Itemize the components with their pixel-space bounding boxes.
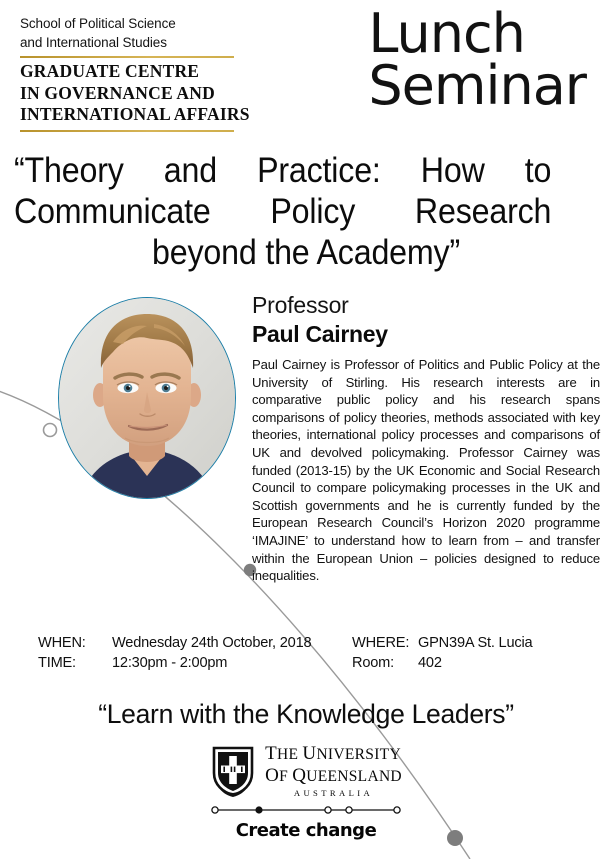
curve-node-hollow bbox=[44, 424, 57, 437]
time-label: TIME: bbox=[38, 653, 112, 673]
speaker-portrait-photo bbox=[58, 297, 236, 499]
portrait-illustration bbox=[59, 298, 235, 498]
speaker-name: Paul Cairney bbox=[252, 320, 600, 348]
speaker-info: Professor Paul Cairney Paul Cairney is P… bbox=[252, 292, 600, 585]
title-line-2: Communicate Policy Research bbox=[14, 191, 551, 232]
when-value: Wednesday 24th October, 2018 bbox=[112, 633, 352, 653]
uq-logo-block: THE UNIVERSITY OF QUEENSLAND AUSTRALIA C… bbox=[0, 744, 612, 841]
tagline: “Learn with the Knowledge Leaders” bbox=[0, 698, 612, 730]
event-type-heading: Lunch Seminar bbox=[368, 8, 586, 112]
room-value: 402 bbox=[418, 653, 532, 673]
poster-header: School of Political Science and Internat… bbox=[20, 14, 280, 132]
where-value: GPN39A St. Lucia bbox=[418, 633, 532, 653]
details-row-when-where: WHEN: Wednesday 24th October, 2018 WHERE… bbox=[38, 633, 532, 653]
seminar-poster: School of Political Science and Internat… bbox=[0, 0, 612, 859]
speaker-role: Professor bbox=[252, 292, 600, 319]
uq-crest-icon bbox=[210, 745, 256, 797]
uq-wordmark-line-2: OF QUEENSLAND bbox=[265, 766, 402, 785]
school-name-line-1: School of Political Science bbox=[20, 14, 280, 33]
event-details: WHEN: Wednesday 24th October, 2018 WHERE… bbox=[38, 633, 583, 673]
gold-divider-bottom bbox=[20, 130, 234, 132]
when-label: WHEN: bbox=[38, 633, 112, 653]
graduate-centre-name: GRADUATE CENTRE IN GOVERNANCE AND INTERN… bbox=[20, 61, 280, 126]
uq-country-label: AUSTRALIA bbox=[265, 789, 402, 798]
details-row-time-room: TIME: 12:30pm - 2:00pm Room: 402 bbox=[38, 653, 532, 673]
uq-wordmark: THE UNIVERSITY OF QUEENSLAND AUSTRALIA bbox=[265, 744, 402, 798]
title-line-3: beyond the Academy” bbox=[37, 232, 574, 273]
uq-wordmark-line-1: THE UNIVERSITY bbox=[265, 744, 402, 763]
room-label: Room: bbox=[352, 653, 418, 673]
speaker-biography: Paul Cairney is Professor of Politics an… bbox=[252, 356, 600, 585]
where-label: WHERE: bbox=[352, 633, 418, 653]
school-name-line-2: and International Studies bbox=[20, 33, 280, 52]
gold-divider-top bbox=[20, 56, 234, 58]
uq-logo-top: THE UNIVERSITY OF QUEENSLAND AUSTRALIA bbox=[210, 744, 402, 798]
page-title: “Theory and Practice: How to Communicate… bbox=[14, 150, 598, 273]
title-line-1: “Theory and Practice: How to bbox=[14, 150, 551, 191]
uq-motto: Create change bbox=[236, 820, 377, 841]
time-value: 12:30pm - 2:00pm bbox=[112, 653, 352, 673]
uq-dot-line-graphic bbox=[211, 804, 401, 816]
